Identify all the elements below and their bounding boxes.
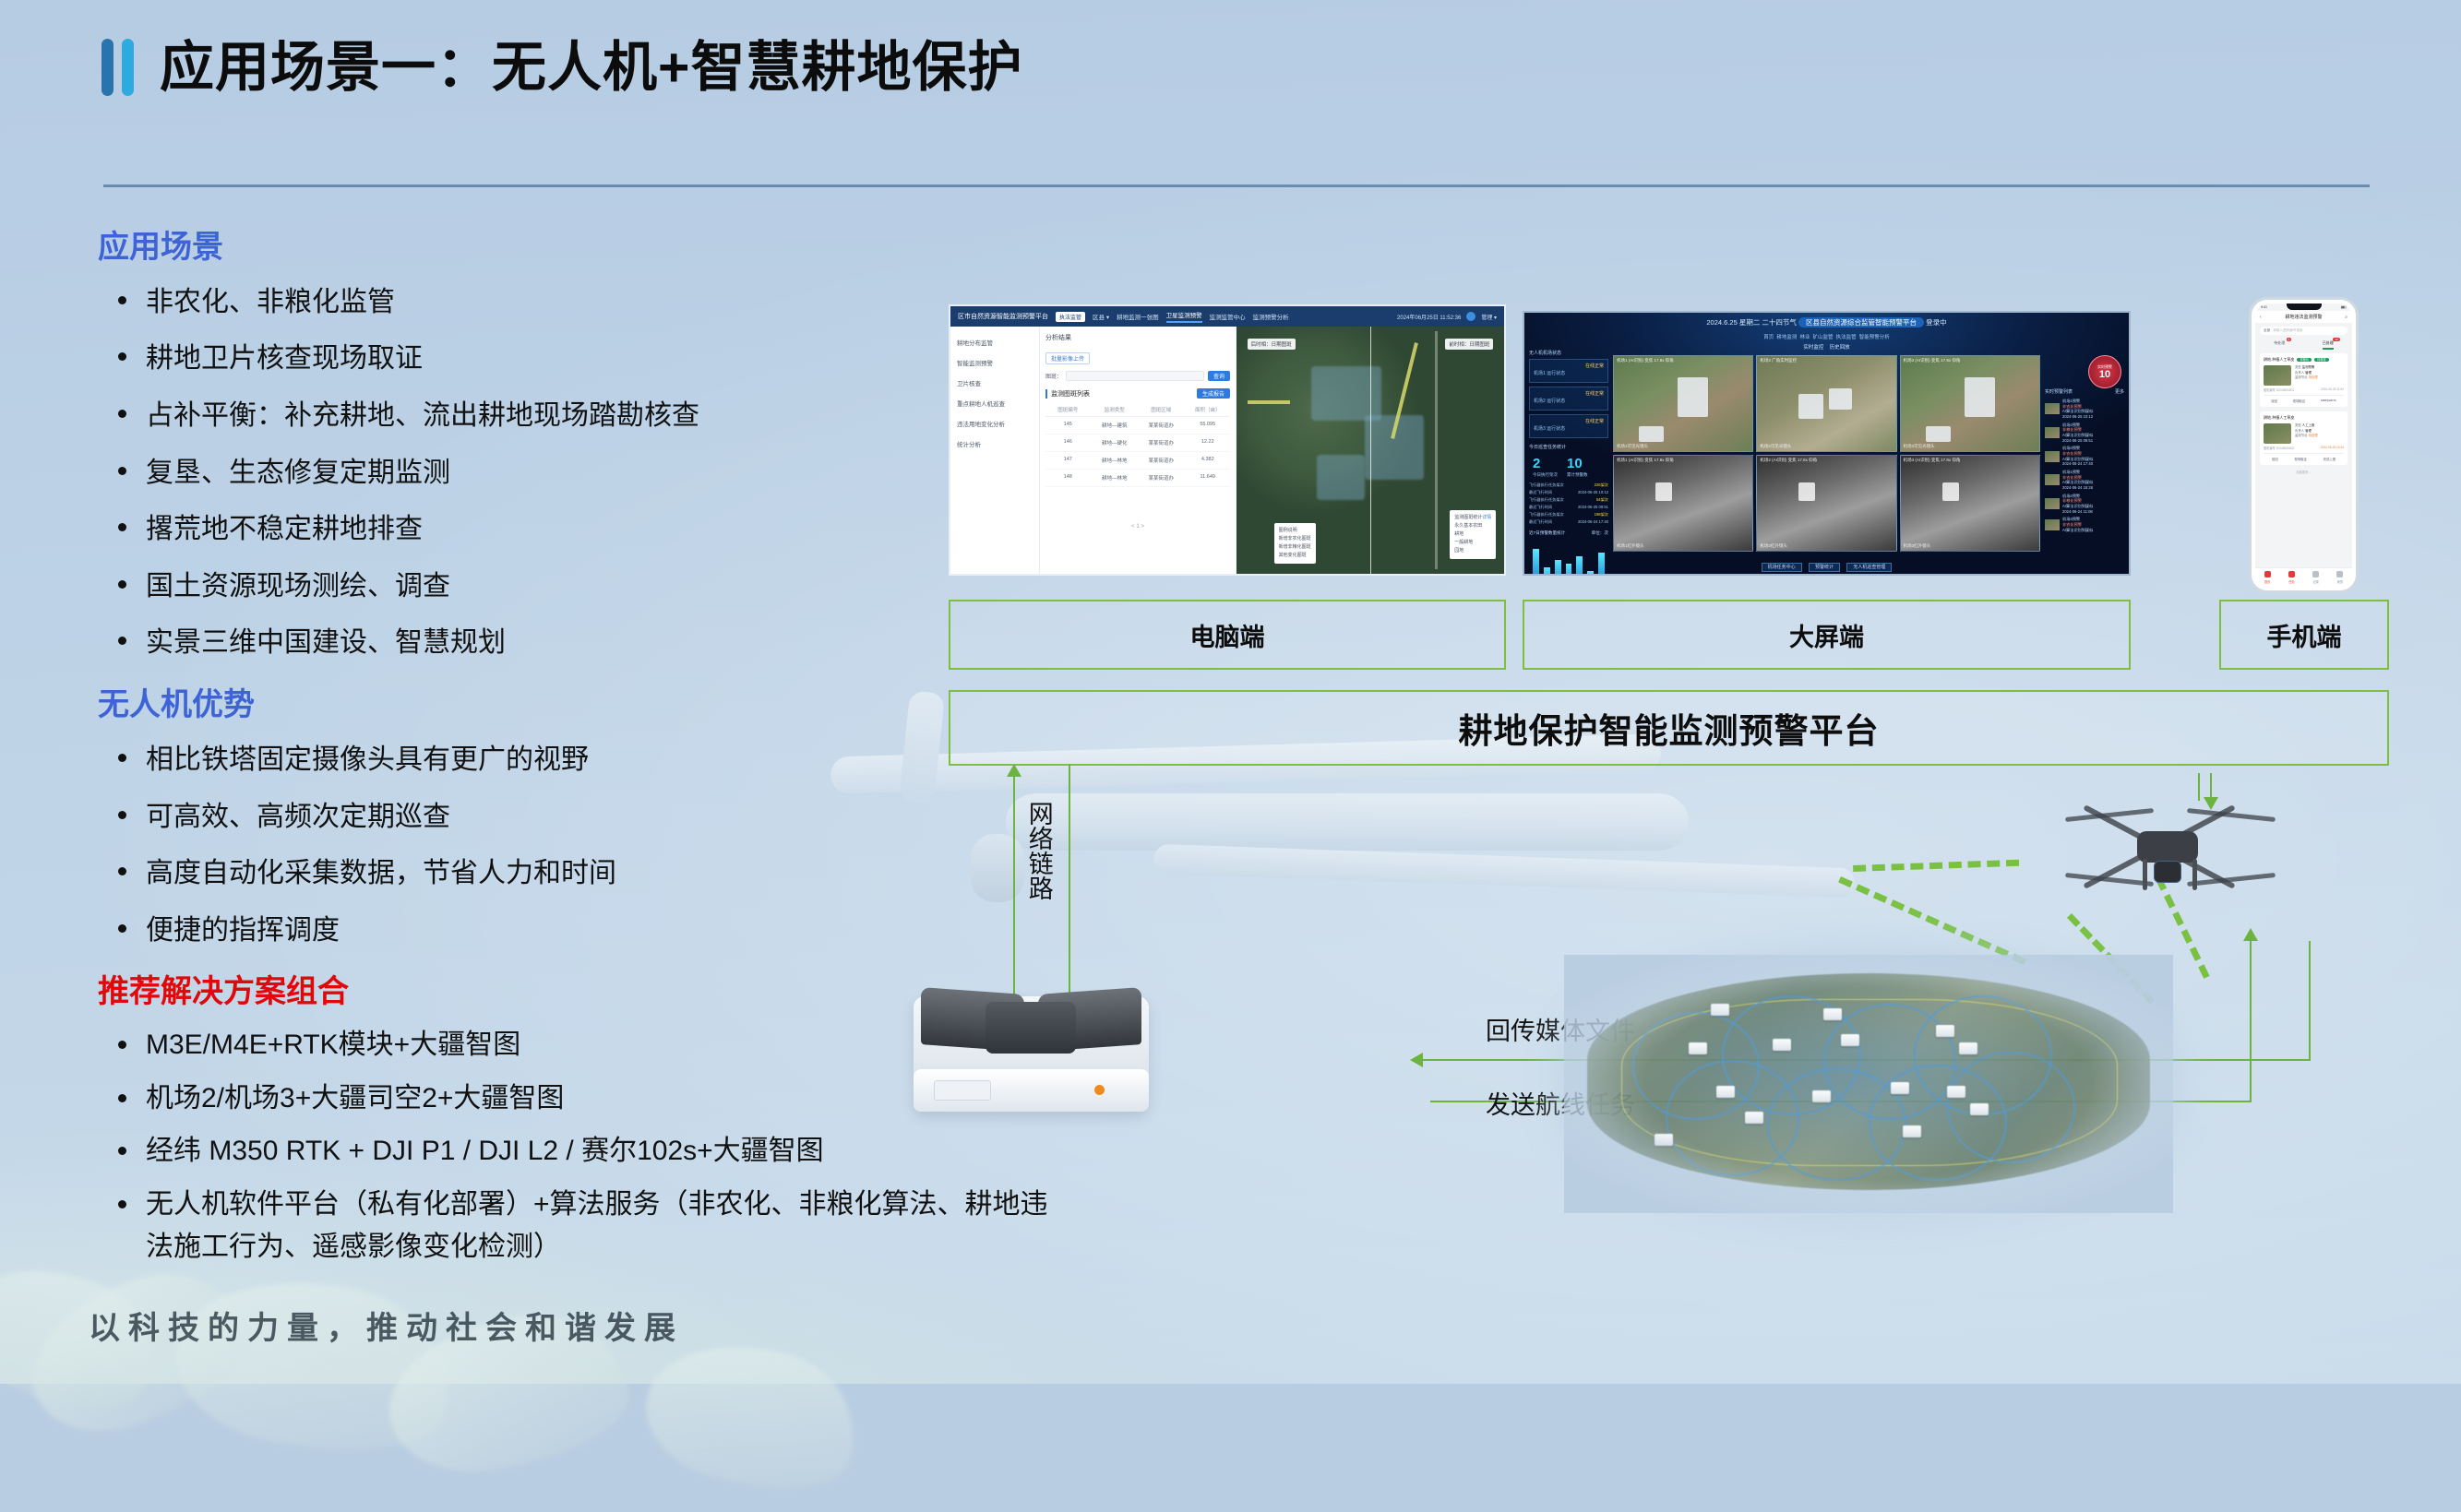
filter-label[interactable]: 全部 bbox=[2264, 328, 2270, 333]
alert-time: 2024-06-24 17:40 bbox=[2062, 461, 2093, 466]
sidebar-item-4[interactable]: 违法用地变化分析 bbox=[955, 413, 1034, 434]
kpi-label: 今日执行架次 bbox=[1533, 472, 1558, 478]
sidebar-item-3[interactable]: 重点耕地人机巡查 bbox=[955, 393, 1034, 413]
upload-button[interactable]: 批量影像上传 bbox=[1045, 352, 1090, 364]
filter-label: 图斑： bbox=[1045, 372, 1062, 380]
list-item[interactable]: 耕地-种植人工草皮 非粮化 待核查 类型 监测预警 负责人 管理 监测节点 待处… bbox=[2260, 353, 2348, 407]
task-icon bbox=[2288, 571, 2295, 577]
pc-header-pill[interactable]: 执法监管 bbox=[1056, 312, 1085, 322]
bs-subtab-0[interactable]: 实时监控 bbox=[1803, 345, 1823, 351]
search-input[interactable]: 全部 请输入图斑编号搜索 bbox=[2260, 327, 2348, 335]
footer-slogan: 以科技的力量，推动社会和谐发展 bbox=[89, 1303, 684, 1348]
bs-header-brand: 2024.6.25 星期二 二十四节气 bbox=[1706, 318, 1797, 327]
action-button[interactable]: 现场取证 bbox=[2294, 457, 2307, 461]
cell: 147 bbox=[1045, 457, 1091, 464]
bs-footer-btn-0[interactable]: 机场任务中心 bbox=[1762, 563, 1802, 572]
kpi-value: 10 bbox=[1567, 456, 1583, 471]
comm-link-plane-to-map bbox=[1838, 876, 2026, 965]
diagram-area: 区市自然资源智能监测预警平台 执法监管 区县 ▾ 耕地监测一张图 卫星监测预警 … bbox=[877, 0, 2461, 1384]
status-badge: 非粮化 bbox=[2297, 358, 2312, 362]
phone-nav-title: 耕地违法监测预警 bbox=[2285, 314, 2322, 320]
action-button[interactable]: 驳回 bbox=[2272, 457, 2278, 461]
pagination[interactable]: < 1 > bbox=[1045, 524, 1230, 530]
map-chip-left[interactable]: 后时相：日期图斑 bbox=[1248, 339, 1296, 350]
sidebar-item-1[interactable]: 智能监测预警 bbox=[955, 352, 1034, 373]
alert-list-item[interactable]: 机场3预警 非农化预警 AI算法识别到疑似 2024-06-24 17:40 bbox=[2045, 446, 2124, 467]
alert-title: 机场1预警 bbox=[2062, 399, 2080, 403]
bs-nav-1[interactable]: 耕地监测 bbox=[1776, 335, 1797, 340]
device-label-big-screen: 大屏端 bbox=[1523, 600, 2131, 670]
bs-camera-grid: 机场1 (AI识别) 变焦 17.8x 仰角 机场1可见光镜头 机场2 广角实时… bbox=[1613, 355, 2040, 552]
panel-item: 耕地 bbox=[1454, 530, 1491, 539]
thumbnail bbox=[2264, 365, 2291, 386]
cell: 145 bbox=[1045, 422, 1091, 429]
card-title: 耕地-种植人工草皮 bbox=[2264, 415, 2294, 420]
alert-list-item[interactable]: 机场2预警 非粮化预警 AI算法识别到疑似 2024-06-24 11:08 bbox=[2045, 494, 2124, 515]
user-icon bbox=[2336, 571, 2343, 577]
cell: 耕地—建筑 bbox=[1093, 422, 1138, 429]
search-button[interactable]: 查询 bbox=[1208, 371, 1230, 381]
cell: 148 bbox=[1045, 474, 1091, 482]
detail-value: 54架次 bbox=[1596, 496, 1608, 504]
detail-key: 飞行器执行任务架次 bbox=[1529, 497, 1564, 502]
detail-value: 2024-06-25 10:12 bbox=[1578, 489, 1608, 496]
alert-time: 2024-06-25 10:12 bbox=[2062, 414, 2093, 419]
flow-label-network-link: 网络链路 bbox=[1024, 801, 1052, 900]
alert-title: 机场2预警 bbox=[2062, 494, 2080, 498]
camera-osd: 机场3 (AI识别) 变焦 17.8x 仰角 bbox=[1904, 358, 1961, 363]
table-row[interactable]: 147 耕地—林地 某某街道办 4.382 bbox=[1045, 452, 1230, 470]
camera-osd: 机场3 (AI识别) 变焦 17.8x 仰角 bbox=[1904, 458, 1961, 463]
badge: 5 bbox=[2287, 338, 2292, 341]
camera-osd: 机场1 (AI识别) 变焦 17.8x 仰角 bbox=[1617, 358, 1674, 363]
cell: 耕地—硬化 bbox=[1093, 439, 1138, 446]
alert-title: 机场1预警 bbox=[2062, 470, 2080, 474]
platform-banner: 耕地保护智能监测预警平台 bbox=[949, 690, 2389, 766]
device-label-pc: 电脑端 bbox=[949, 600, 1506, 670]
breadcrumb: 分析结果 bbox=[1045, 333, 1230, 342]
chevron-left-icon[interactable]: ‹ bbox=[2260, 315, 2262, 320]
pc-screenshot: 区市自然资源智能监测预警平台 执法监管 区县 ▾ 耕地监测一张图 卫星监测预警 … bbox=[949, 304, 1506, 576]
table-header: 图斑编号 监测类型 图斑区域 面积（亩） bbox=[1045, 406, 1230, 417]
cell: 某某街道办 bbox=[1139, 457, 1184, 464]
phone-screenshot: 9:41 ▮▮▯ ‹ 耕地违法监测预警 ⌕ 全部 请输入图斑编号搜索 待处理 5… bbox=[2249, 297, 2359, 593]
comm-link-quad-to-map bbox=[2067, 913, 2155, 1004]
col-3: 面积（亩） bbox=[1186, 406, 1231, 413]
bs-nav-0[interactable]: 首页 bbox=[1763, 335, 1774, 340]
detail-key: 飞行器执行任务架次 bbox=[1529, 512, 1564, 517]
camera-tile[interactable]: 机场3 (AI识别) 变焦 17.8x 仰角 机场3红外镜头 bbox=[1900, 455, 2040, 552]
bs-nav-4[interactable]: 执法监管 bbox=[1836, 335, 1857, 340]
pc-nav-2[interactable]: 监测监管中心 bbox=[1210, 312, 1246, 321]
title-accent-bars bbox=[102, 39, 134, 96]
meta-right: 2024-06-25 10:24 bbox=[2321, 446, 2344, 449]
meta-left: 图斑编号 20240625002 bbox=[2264, 446, 2294, 450]
flow-line-media bbox=[2309, 941, 2311, 1061]
detail-value: 198架次 bbox=[1595, 511, 1608, 518]
detail-value: 2024-06-25 09:51 bbox=[1578, 504, 1608, 511]
sidebar-item-2[interactable]: 卫片核查 bbox=[955, 373, 1034, 393]
home-icon bbox=[2264, 571, 2271, 577]
panel-action[interactable]: 详情 bbox=[1482, 514, 1491, 522]
camera-tile[interactable]: 机场3 (AI识别) 变焦 17.8x 仰角 机场3可见光镜头 bbox=[1900, 355, 2040, 452]
alert-type: 非粮化预警 bbox=[2062, 498, 2082, 503]
arrow-up-left bbox=[1007, 764, 1021, 777]
card-title: 耕地-种植人工草皮 bbox=[2264, 357, 2294, 362]
bs-status-row: 在线正常 机场2 运行状态 bbox=[1529, 387, 1608, 411]
cell: 耕地—林地 bbox=[1093, 457, 1138, 464]
cell: 146 bbox=[1045, 439, 1091, 446]
meta-left: 图斑编号 20240625001 bbox=[2264, 388, 2294, 392]
alert-type: 非粮化预警 bbox=[2062, 427, 2082, 432]
alert-desc: AI算法识别到疑似 bbox=[2062, 433, 2093, 437]
bs-nav-3[interactable]: 矿山监管 bbox=[1813, 335, 1834, 340]
detail-key: 最近飞行时间 bbox=[1529, 490, 1552, 494]
phone-navbar: ‹ 耕地违法监测预警 ⌕ bbox=[2255, 311, 2352, 323]
legend-item: 新增非农化图斑 bbox=[1279, 535, 1311, 543]
pc-nav-1[interactable]: 卫星监测预警 bbox=[1166, 310, 1202, 323]
action-button[interactable]: 驳回 bbox=[2271, 399, 2277, 403]
pc-result-panel: 分析结果 批量影像上传 图斑： 查询 监测图斑列表 生成报告 图斑编号 监测类型 bbox=[1040, 327, 1236, 574]
bs-title-text: 区县自然资源综合监管智能预警平台 bbox=[1798, 317, 1924, 327]
bs-nav: 首页 耕地监测 林业 矿山监管 执法监管 智能预警分析 bbox=[1524, 333, 2129, 340]
status-value: 在线正常 bbox=[1585, 418, 1604, 424]
camera-caption: 机场1可见光镜头 bbox=[1617, 444, 1648, 449]
report-button[interactable]: 生成报告 bbox=[1197, 388, 1230, 399]
alert-desc: AI算法识别到疑似 bbox=[2062, 480, 2093, 484]
tabbar-record[interactable]: 记录 bbox=[2304, 568, 2328, 587]
comm-link-plane-aux bbox=[1853, 860, 2019, 872]
tab-pending[interactable]: 待处理 5 bbox=[2274, 340, 2285, 350]
accent-bar-light bbox=[122, 39, 134, 96]
pc-nav-3[interactable]: 监测预警分析 bbox=[1253, 312, 1289, 321]
bs-status-row: 在线正常 机场3 运行状态 bbox=[1529, 414, 1608, 438]
search-placeholder: 请输入图斑编号搜索 bbox=[2273, 328, 2302, 333]
map-legend: 图例说明 新增非农化图斑 新增非粮化图斑 其他变化图斑 bbox=[1274, 523, 1316, 564]
camera-tile[interactable]: 机场1 (AI识别) 变焦 17.8x 仰角 机场1可见光镜头 bbox=[1613, 355, 1753, 452]
bs-right-title: 实时预警列表 bbox=[2045, 389, 2073, 395]
pc-sidebar: 耕地分布监管 智能监测预警 卫片核查 重点耕地人机巡查 违法用地变化分析 统计分… bbox=[950, 327, 1040, 574]
thumbnail bbox=[2264, 423, 2291, 444]
action-button[interactable]: 现场取证 bbox=[2293, 399, 2306, 403]
bs-chart-title: 近7日预警数量统计 bbox=[1529, 530, 1565, 535]
tab-done[interactable]: 已处理 12 bbox=[2323, 340, 2334, 350]
camera-tile[interactable]: 机场2 广角实时监控 机场2可见光镜头 bbox=[1756, 355, 1896, 452]
accent-bar-dark bbox=[102, 39, 113, 96]
alert-type: 非农化预警 bbox=[2062, 451, 2082, 456]
bs-header: 2024.6.25 星期二 二十四节气 区县自然资源综合监管智能预警平台 登录中 bbox=[1524, 317, 2129, 327]
status-time: 9:41 bbox=[2261, 305, 2267, 309]
list-icon bbox=[2312, 571, 2319, 577]
alert-type: 非农化预警 bbox=[2062, 475, 2082, 480]
detail-value: 226架次 bbox=[1595, 482, 1608, 489]
bs-right-action[interactable]: 更多 bbox=[2115, 388, 2124, 395]
status-key: 机场1 运行状态 bbox=[1534, 371, 1565, 376]
alert-type: 非农化预警 bbox=[2062, 522, 2082, 527]
quadcopter-illustration bbox=[2058, 780, 2279, 918]
detail-key: 飞行器执行任务架次 bbox=[1529, 482, 1564, 487]
arrow-up-mission bbox=[2243, 928, 2258, 941]
cell: 4.382 bbox=[1186, 457, 1231, 464]
status-badge: 待核查 bbox=[2314, 358, 2329, 362]
map-chip-right[interactable]: 前时相：日期图斑 bbox=[1445, 339, 1493, 350]
cell: 11.649 bbox=[1186, 474, 1231, 482]
bs-header-right: 登录中 bbox=[1926, 318, 1947, 327]
pc-region-dropdown[interactable]: 区县 ▾ bbox=[1093, 312, 1109, 321]
status-value: 在线正常 bbox=[1585, 390, 1604, 397]
device-label-phone: 手机端 bbox=[2219, 600, 2389, 670]
col-1: 监测类型 bbox=[1093, 406, 1138, 413]
camera-tile[interactable]: 机场1 (AI识别) 变焦 17.8x 仰角 机场1红外镜头 bbox=[1613, 455, 1753, 552]
phone-notch bbox=[2287, 304, 2322, 310]
alert-time: 2024-06-24 11:08 bbox=[2062, 509, 2093, 514]
search-icon[interactable]: ⌕ bbox=[2345, 315, 2348, 320]
camera-caption: 机场2可见光镜头 bbox=[1760, 444, 1791, 449]
pc-app-title: 区市自然资源智能监测预警平台 bbox=[958, 312, 1048, 321]
load-more[interactable]: 加载更多… bbox=[2255, 470, 2352, 474]
status-key: 机场2 运行状态 bbox=[1534, 399, 1565, 404]
alert-desc: AI算法识别到疑似 bbox=[2062, 409, 2093, 413]
camera-caption: 机场1红外镜头 bbox=[1617, 543, 1644, 549]
panel-item: 一般耕地 bbox=[1454, 539, 1491, 547]
map-stats-panel: 监测图斑统计 详情 永久基本农田 耕地 一般耕地 园地 bbox=[1450, 510, 1496, 559]
alert-list-item[interactable]: 机场1预警 非农化预警 AI算法识别到疑似 2024-06-24 15:26 bbox=[2045, 470, 2124, 491]
sidebar-item-0[interactable]: 耕地分布监管 bbox=[955, 332, 1034, 352]
search-input[interactable] bbox=[1066, 371, 1204, 381]
flow-line-down-left bbox=[1069, 764, 1070, 1006]
badge: 12 bbox=[2333, 338, 2339, 341]
satellite-map-view[interactable]: 后时相：日期图斑 前时相：日期图斑 图例说明 新增非农化图斑 新增非粮化图斑 其… bbox=[1236, 327, 1504, 574]
meta-right: 2024-06-25 11:52 bbox=[2321, 387, 2344, 391]
col-0: 图斑编号 bbox=[1045, 406, 1091, 413]
camera-tile[interactable]: 机场2 (AI识别) 变焦 17.8x 仰角 机场2红外镜头 bbox=[1756, 455, 1896, 552]
coverage-map-illustration bbox=[1587, 973, 2150, 1190]
bs-chart-unit: 单位：次 bbox=[1592, 530, 1608, 536]
bs-right-panel: 实时预警列表 更多 机场1预警 非农化预警 AI算法识别到疑似 2024-06-… bbox=[2045, 357, 2124, 554]
avatar[interactable] bbox=[1466, 312, 1475, 321]
alert-desc: AI算法识别到疑似 bbox=[2062, 528, 2093, 532]
legend-title: 图例说明 bbox=[1279, 527, 1311, 535]
alert-desc: AI算法识别到疑似 bbox=[2062, 504, 2093, 508]
bs-subtab-1[interactable]: 历史回放 bbox=[1830, 345, 1850, 351]
detail-key: 最近飞行时间 bbox=[1529, 505, 1552, 509]
detail-key: 最近飞行时间 bbox=[1529, 519, 1552, 524]
panel-item: 园地 bbox=[1454, 547, 1491, 555]
table-row[interactable]: 145 耕地—建筑 某某街道办 55.095 bbox=[1045, 417, 1230, 435]
bs-nav-2[interactable]: 林业 bbox=[1799, 335, 1810, 340]
cell: 耕地—林地 bbox=[1093, 474, 1138, 482]
tabbar-me[interactable]: 我的 bbox=[2328, 568, 2352, 587]
kpi-label: 累计预警数 bbox=[1567, 472, 1588, 478]
pc-user-menu[interactable]: 管理 ▾ bbox=[1481, 313, 1497, 321]
camera-caption: 机场3可见光镜头 bbox=[1904, 444, 1935, 449]
panel-item: 永久基本农田 bbox=[1454, 522, 1491, 530]
bs-left-panel: 无人机机场状态 在线正常 机场1 运行状态 在线正常 机场2 运行状态 在线正常… bbox=[1529, 350, 1608, 554]
sidebar-item-5[interactable]: 统计分析 bbox=[955, 434, 1034, 454]
phone-tabs: 待处理 5 已处理 12 bbox=[2255, 339, 2352, 353]
legend-item: 新增非粮化图斑 bbox=[1279, 543, 1311, 552]
kpi-value: 2 bbox=[1533, 456, 1540, 471]
bs-stats-title: 今日巡查任务统计 bbox=[1529, 444, 1608, 450]
camera-osd: 机场1 (AI识别) 变焦 17.8x 仰角 bbox=[1617, 458, 1674, 463]
bs-footer-buttons: 机场任务中心 预警统计 无人机巡查管理 bbox=[1524, 564, 2129, 570]
camera-caption: 机场3红外镜头 bbox=[1904, 543, 1931, 549]
alert-desc: AI算法识别到疑似 bbox=[2062, 457, 2093, 461]
panel-title: 监测图斑统计 bbox=[1454, 515, 1482, 520]
cell: 某某街道办 bbox=[1139, 422, 1184, 429]
bs-left-title: 无人机机场状态 bbox=[1529, 350, 1608, 356]
alert-title: 机场3预警 bbox=[2062, 446, 2080, 450]
big-screen-screenshot: 2024.6.25 星期二 二十四节气 区县自然资源综合监管智能预警平台 登录中… bbox=[1523, 311, 2131, 576]
action-button[interactable]: завершить bbox=[2321, 399, 2336, 403]
action-button[interactable]: 完成上报 bbox=[2324, 457, 2336, 461]
tabbar-home[interactable]: 首页 bbox=[2255, 568, 2279, 587]
arrow-left-media bbox=[1410, 1053, 1423, 1067]
alert-list-item[interactable]: 机场1预警 非农化预警 AI算法识别到疑似 2024-06-25 10:12 bbox=[2045, 399, 2124, 420]
tabbar-task[interactable]: 任务 bbox=[2279, 568, 2303, 587]
cell: 12.22 bbox=[1186, 439, 1231, 446]
cell: 55.095 bbox=[1186, 422, 1231, 429]
legend-item: 其他变化图斑 bbox=[1279, 552, 1311, 560]
pc-datetime: 2024年06月25日 11:52:36 bbox=[1397, 313, 1461, 321]
bs-footer-btn-2[interactable]: 无人机巡查管理 bbox=[1846, 563, 1892, 572]
alert-time: 2024-06-24 15:26 bbox=[2062, 485, 2093, 490]
alert-list-item[interactable]: 机场2预警 非粮化预警 AI算法识别到疑似 2024-06-25 09:51 bbox=[2045, 423, 2124, 444]
alert-list-item[interactable]: 机场3预警 非农化预警 AI算法识别到疑似 bbox=[2045, 517, 2124, 532]
col-2: 图斑区域 bbox=[1139, 406, 1184, 413]
flow-line-mission-v bbox=[2250, 939, 2252, 1101]
detail-value: 2024-06-24 17:40 bbox=[1578, 518, 1608, 526]
bs-status-row: 在线正常 机场1 运行状态 bbox=[1529, 359, 1608, 383]
signal-icon: ▮▮▯ bbox=[2341, 305, 2347, 309]
camera-caption: 机场2红外镜头 bbox=[1760, 543, 1787, 549]
kpi-alarm: 10 累计预警数 bbox=[1567, 456, 1588, 478]
alert-type: 非农化预警 bbox=[2062, 404, 2082, 409]
status-key: 机场3 运行状态 bbox=[1534, 426, 1565, 432]
list-title: 监测图斑列表 bbox=[1045, 389, 1090, 399]
bs-kpi-group: 2 今日执行架次 10 累计预警数 bbox=[1529, 452, 1608, 482]
cell: 某某街道办 bbox=[1139, 439, 1184, 446]
camera-osd: 机场2 (AI识别) 变焦 17.8x 仰角 bbox=[1760, 458, 1817, 463]
table-row[interactable]: 148 耕地—林地 某某街道办 11.649 bbox=[1045, 470, 1230, 487]
pc-topbar: 区市自然资源智能监测预警平台 执法监管 区县 ▾ 耕地监测一张图 卫星监测预警 … bbox=[950, 306, 1504, 327]
alert-time: 2024-06-25 09:51 bbox=[2062, 438, 2093, 443]
list-item[interactable]: 耕地-种植人工草皮 类型 人工上报 负责人 管理 监测节点 待处理 图斑编号 2… bbox=[2260, 411, 2348, 465]
phone-tabbar: 首页 任务 记录 我的 bbox=[2255, 567, 2352, 587]
alert-title: 机场2预警 bbox=[2062, 423, 2080, 427]
status-value: 在线正常 bbox=[1585, 363, 1604, 369]
cell: 某某街道办 bbox=[1139, 474, 1184, 482]
pc-nav-0[interactable]: 耕地监测一张图 bbox=[1117, 312, 1159, 321]
bs-nav-5[interactable]: 智能预警分析 bbox=[1859, 335, 1890, 340]
bs-subtabs: 实时监控 历史回放 bbox=[1524, 343, 2129, 351]
alert-title: 机场3预警 bbox=[2062, 517, 2080, 521]
kpi-today: 2 今日执行架次 bbox=[1533, 456, 1558, 478]
table-row[interactable]: 146 耕地—硬化 某某街道办 12.22 bbox=[1045, 435, 1230, 452]
flow-line-up-left bbox=[1013, 775, 1015, 1024]
bs-footer-btn-1[interactable]: 预警统计 bbox=[1809, 563, 1840, 572]
camera-osd: 机场2 广角实时监控 bbox=[1760, 358, 1797, 363]
